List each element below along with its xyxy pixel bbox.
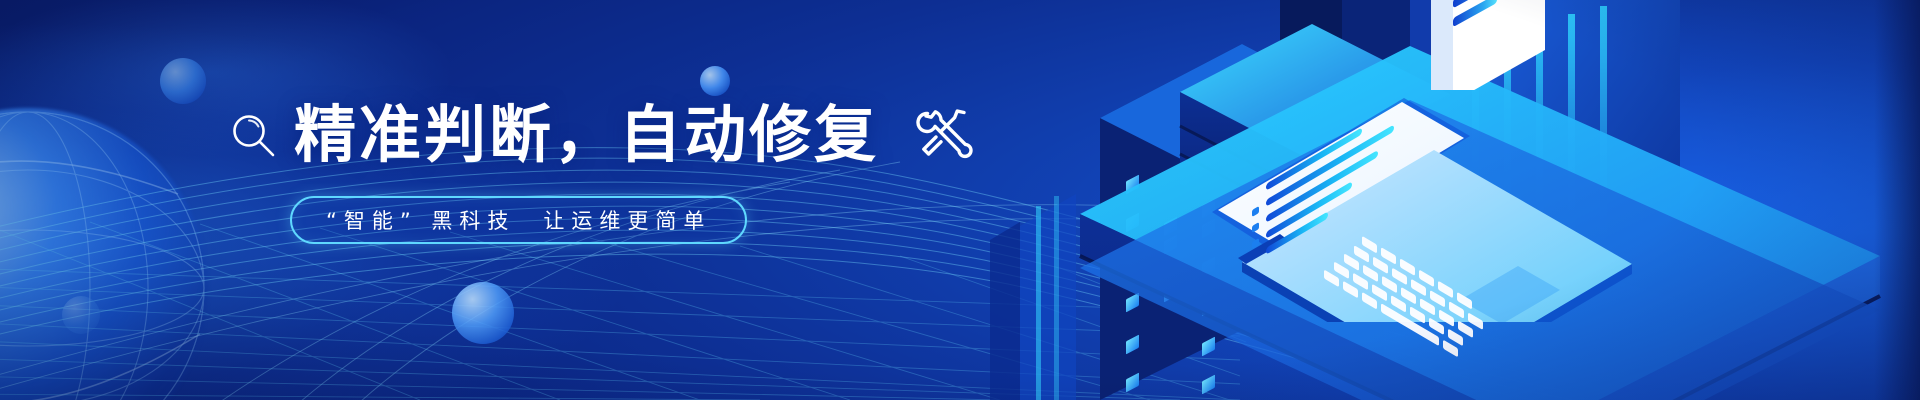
hero-banner: 精准判断，自动修复 “智能” 黑科技 让运维更简单 bbox=[0, 0, 1920, 400]
vignette-overlay bbox=[0, 0, 1920, 400]
